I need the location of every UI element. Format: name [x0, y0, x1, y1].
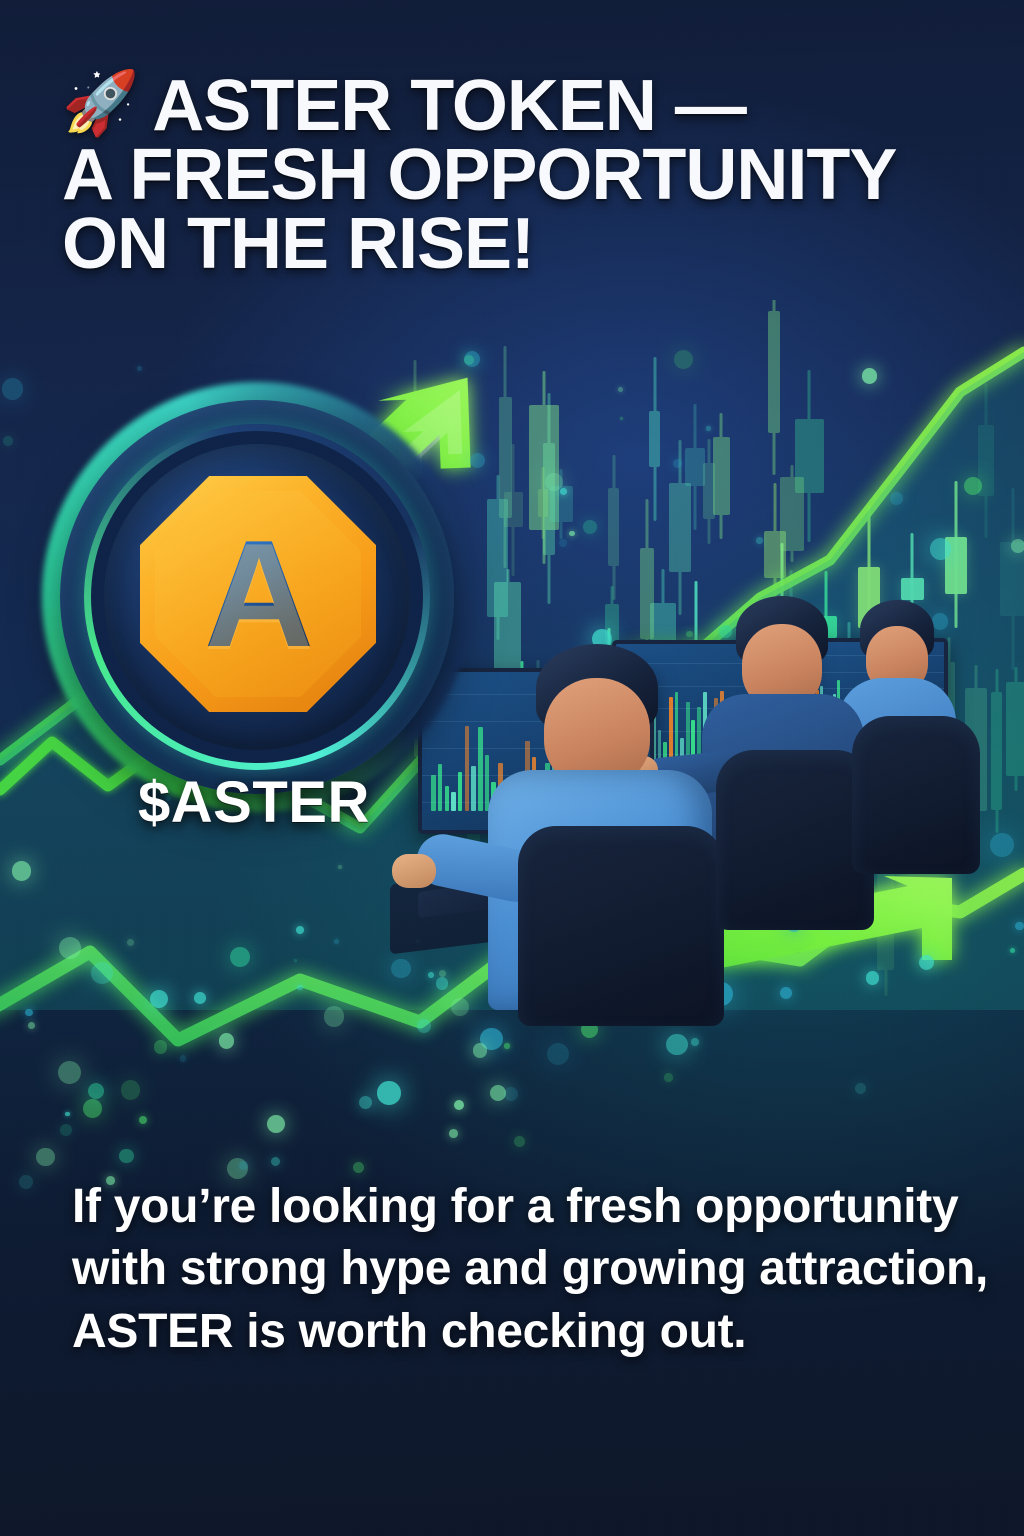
bokeh-dot [583, 520, 597, 534]
bokeh-dot [83, 1099, 102, 1118]
bokeh-dot [417, 1019, 431, 1033]
bokeh-dot [504, 1043, 509, 1048]
bokeh-dot [297, 985, 303, 991]
bokeh-dot [25, 1009, 33, 1017]
candle-body [768, 311, 780, 433]
bokeh-dot [88, 1083, 104, 1099]
bokeh-dot [359, 1096, 372, 1109]
bokeh-dot [180, 1055, 186, 1061]
monitor-chart-bar [458, 772, 463, 811]
coin-letter-a: A [204, 518, 312, 670]
candle-body [499, 397, 512, 518]
bokeh-dot [664, 1073, 673, 1082]
coin-octagon: A [140, 476, 376, 712]
bokeh-dot [139, 1116, 147, 1124]
bokeh-dot [454, 1100, 464, 1110]
bokeh-dot [338, 865, 342, 869]
bokeh-dot [855, 1083, 866, 1094]
headline-line-1: 🚀ASTER TOKEN — [62, 72, 962, 141]
headline-line-1-text: ASTER TOKEN — [152, 66, 746, 146]
candle-body [649, 411, 660, 467]
bokeh-dot [618, 387, 623, 392]
bokeh-dot [12, 861, 31, 880]
bokeh-dot [19, 1175, 33, 1189]
bokeh-dot [119, 1149, 133, 1163]
bokeh-dot [28, 1022, 35, 1029]
bokeh-dot [2, 378, 23, 399]
bokeh-dot [60, 1124, 72, 1136]
bokeh-dot [294, 959, 297, 962]
ticker-label: $ASTER [138, 769, 370, 836]
body-copy-line-3: ASTER is worth checking out. [72, 1301, 962, 1363]
candlestick-background [685, 404, 705, 530]
headline-line-3: ON THE RISE! [62, 210, 962, 279]
bokeh-dot [324, 1006, 344, 1026]
candle-body [780, 477, 804, 551]
body-copy-line-1: If you’re looking for a fresh opportunit… [72, 1176, 962, 1238]
candlestick-background [499, 346, 512, 568]
candle-body [703, 463, 714, 519]
candle-body [538, 489, 548, 517]
monitor-chart-bar [471, 766, 476, 811]
bokeh-dot [296, 926, 304, 934]
bokeh-dot [473, 1043, 487, 1057]
traders-scene [400, 590, 1024, 1010]
bokeh-dot [59, 937, 81, 959]
aster-coin-logo: A [58, 398, 456, 796]
bokeh-dot [1011, 539, 1024, 553]
candlestick-background [768, 300, 780, 475]
bokeh-dot [691, 1038, 699, 1046]
candlestick-background [713, 413, 730, 539]
bokeh-dot [3, 436, 12, 445]
candle-body [685, 448, 705, 486]
bokeh-dot [127, 939, 134, 946]
candle-body [608, 488, 619, 565]
bokeh-dot [91, 962, 113, 984]
chair-2 [716, 750, 874, 930]
monitor-chart-bar [465, 726, 470, 811]
bokeh-dot [377, 1081, 401, 1105]
bokeh-dot [514, 1136, 525, 1147]
chair-3 [852, 716, 980, 874]
chair-1 [518, 826, 724, 1026]
bokeh-dot [470, 453, 485, 468]
bokeh-dot [334, 939, 339, 944]
bokeh-dot [58, 1061, 82, 1085]
bokeh-dot [230, 947, 250, 967]
candlestick-background [608, 455, 619, 600]
bokeh-dot [756, 537, 763, 544]
candlestick-background [703, 439, 714, 544]
bokeh-dot [154, 1040, 168, 1054]
candlestick-background [649, 357, 660, 521]
candlestick-background [978, 383, 994, 538]
bokeh-dot [65, 1112, 70, 1117]
bokeh-dot [706, 426, 711, 431]
candlestick-background [780, 465, 804, 562]
bokeh-dot [930, 538, 952, 560]
candle-body [713, 437, 730, 514]
bokeh-dot [862, 368, 878, 384]
bokeh-dot [490, 1085, 506, 1101]
bokeh-dot [353, 1162, 364, 1173]
bokeh-dot [271, 1157, 281, 1167]
bokeh-dot [194, 992, 206, 1004]
bokeh-dot [137, 366, 142, 371]
bokeh-dot [36, 1148, 55, 1167]
bokeh-dot [674, 350, 694, 370]
headline-line-2: A FRESH OPPORTUNITY [62, 141, 962, 210]
bokeh-dot [666, 1034, 688, 1056]
bokeh-dot [239, 1161, 248, 1170]
promo-poster: A $ASTER 🚀ASTER TOKEN — A FRESH OPPORTUN… [0, 0, 1024, 1536]
bokeh-dot [121, 1080, 141, 1100]
bokeh-dot [547, 1043, 569, 1065]
rocket-icon: 🚀 [62, 74, 138, 134]
trader-1-hand [392, 854, 436, 888]
headline: 🚀ASTER TOKEN — A FRESH OPPORTUNITY ON TH… [62, 72, 962, 279]
bokeh-dot [267, 1115, 285, 1133]
bokeh-dot [150, 990, 168, 1008]
body-copy-line-2: with strong hype and growing attraction, [72, 1238, 962, 1300]
bokeh-dot [219, 1033, 234, 1048]
bokeh-dot [449, 1129, 458, 1138]
monitor-chart-bar [478, 727, 483, 811]
body-copy: If you’re looking for a fresh opportunit… [72, 1176, 962, 1363]
